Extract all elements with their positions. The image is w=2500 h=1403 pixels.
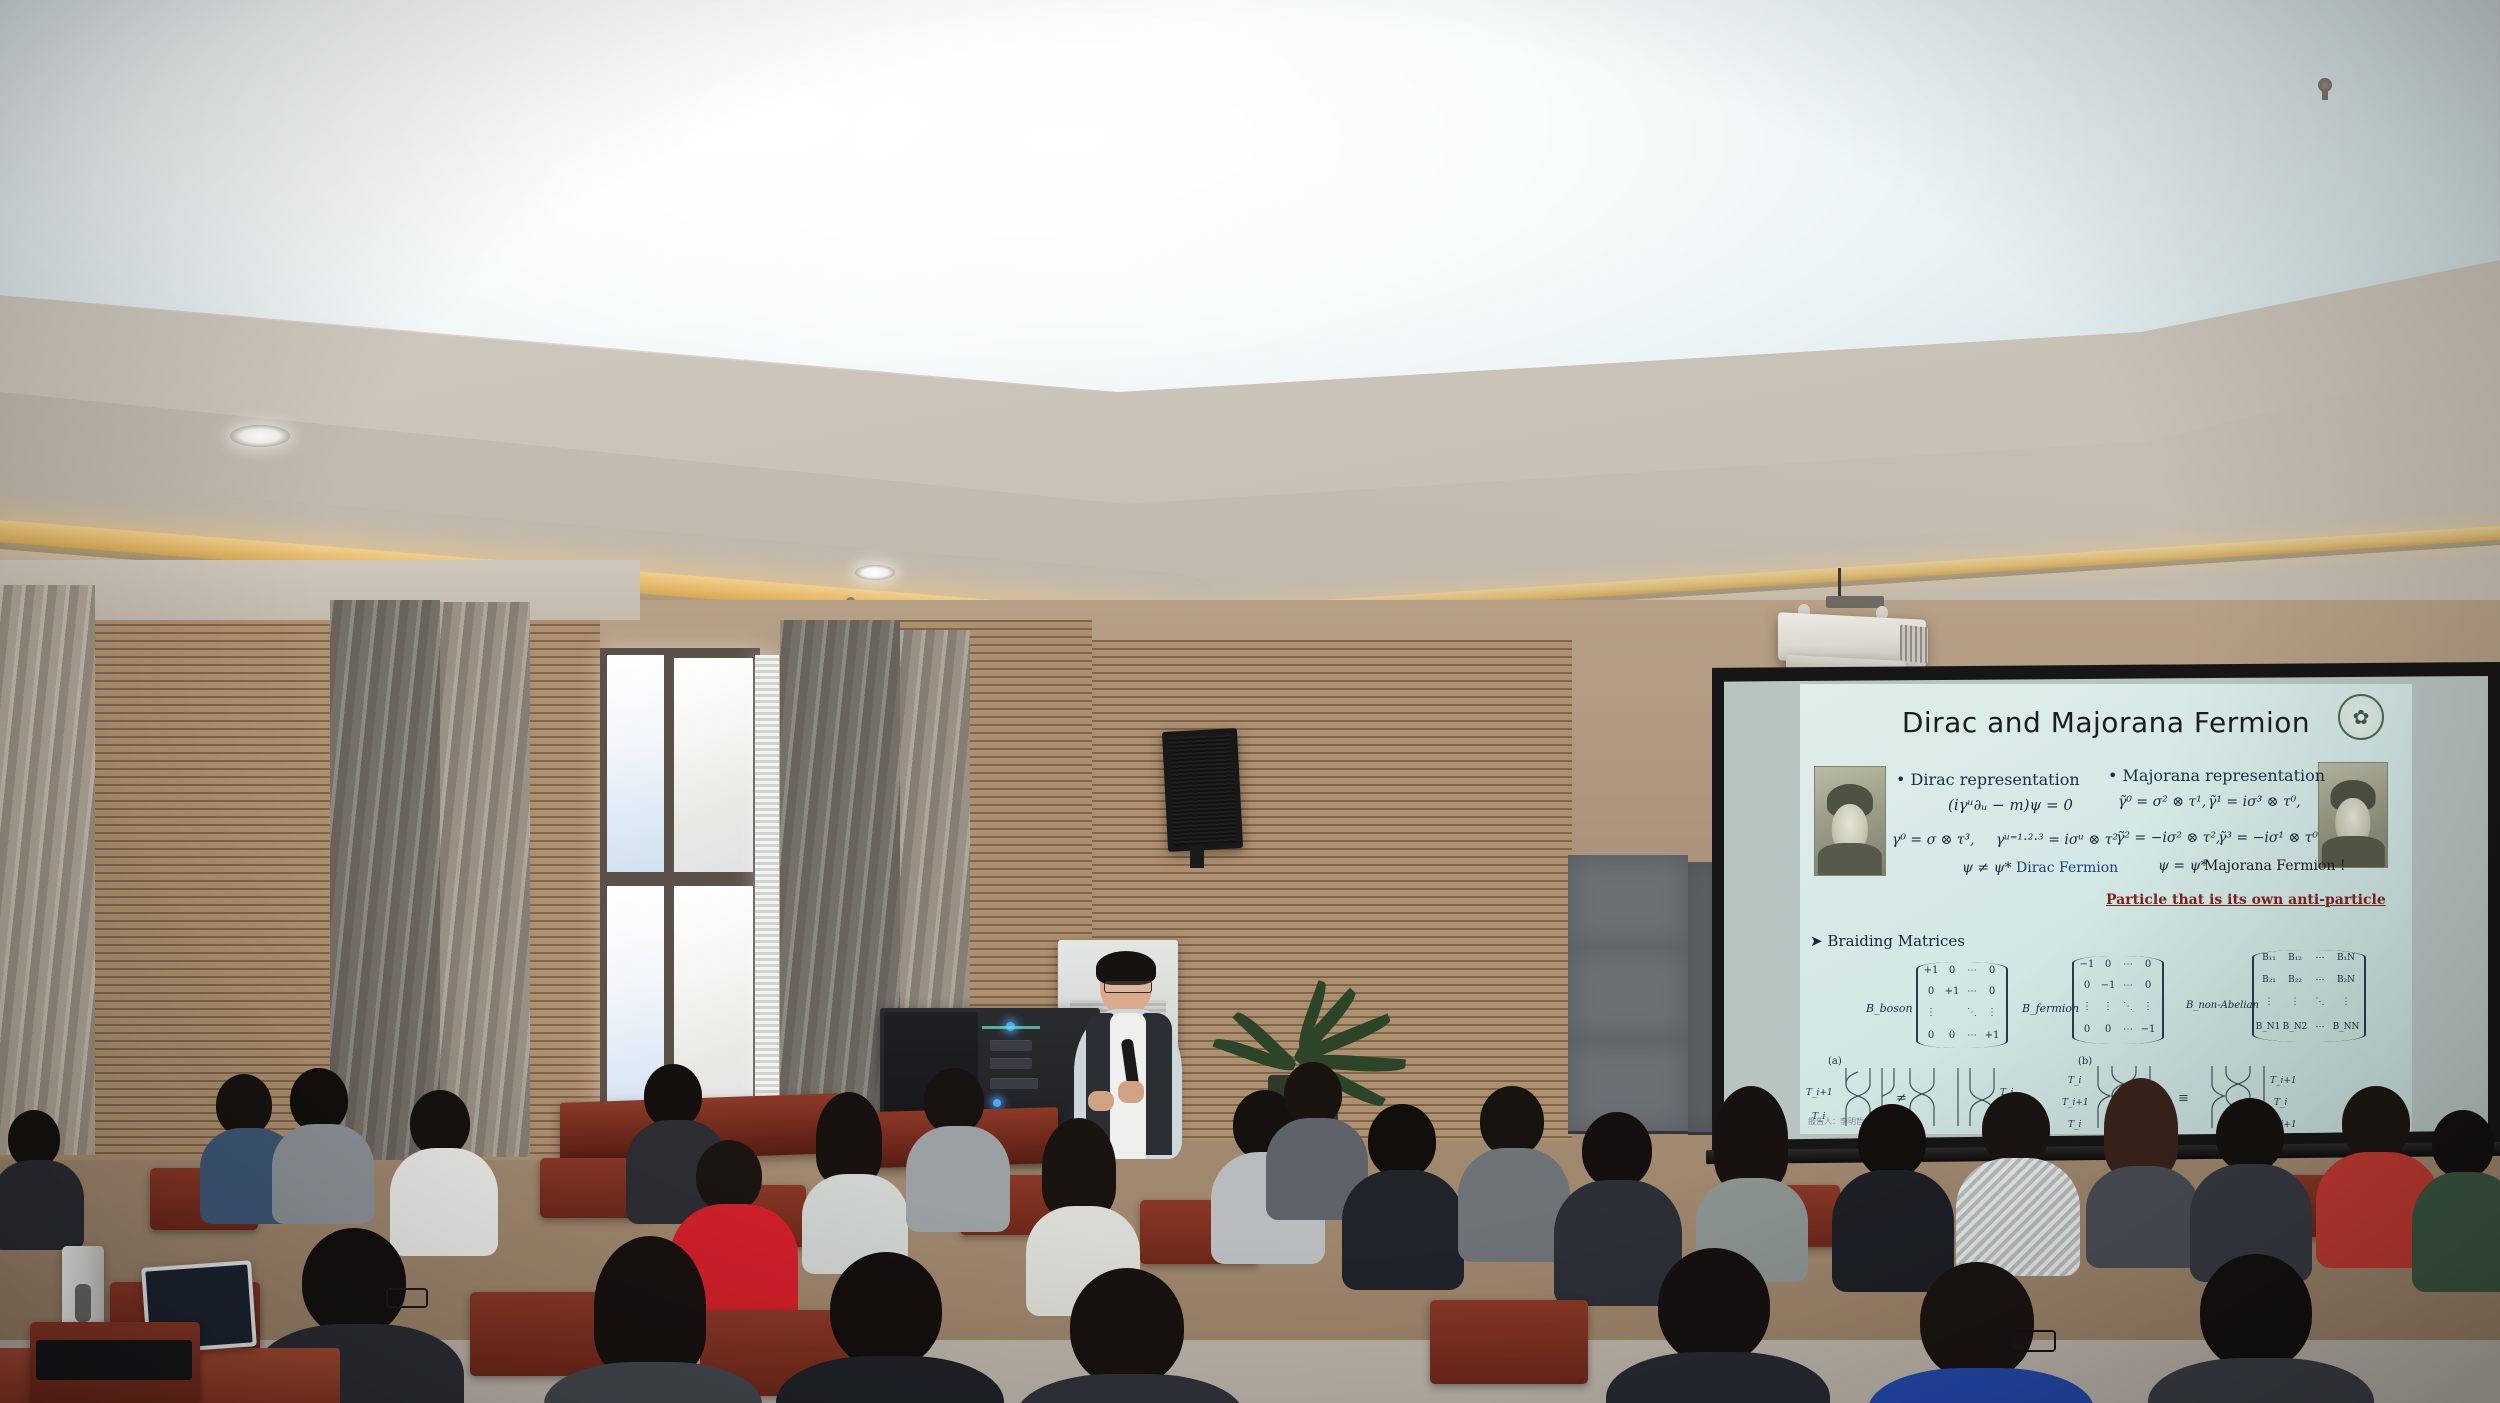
dirac-equation-3: γᵘ⁼¹⋅²⋅³ = iσᵘ ⊗ τ² — [1996, 832, 2118, 848]
dirac-bullet: • Dirac representation — [1896, 770, 2080, 789]
matrix-cell: ⋯ — [1962, 986, 1982, 997]
torso — [2086, 1166, 2200, 1268]
glasses-icon — [386, 1288, 428, 1308]
matrix-cell: +1 — [1920, 965, 1942, 976]
curtain-far-left — [0, 585, 95, 1155]
torso — [2148, 1358, 2374, 1403]
presenter-hand — [1118, 1081, 1144, 1103]
audience-member-front — [2160, 1254, 2360, 1403]
matrix-cell: ⋮ — [2098, 1001, 2118, 1012]
audience-member — [1462, 1086, 1564, 1246]
matrix-cell: −1 — [2076, 959, 2098, 970]
matrix-cell: ⋮ — [1982, 1007, 2002, 1018]
head — [1920, 1262, 2034, 1380]
matrix-cell: ⋱ — [2308, 997, 2332, 1007]
matrix-cell: ⋯ — [1962, 965, 1982, 976]
head — [1582, 1112, 1652, 1188]
head — [696, 1140, 762, 1212]
projector-vent — [1900, 625, 1928, 664]
dirac-bullet-label: Dirac representation — [1911, 770, 2080, 789]
matrix-cell: ⋯ — [2308, 975, 2332, 985]
rack-unit-1 — [990, 1040, 1032, 1051]
chair-seat-foreground — [36, 1340, 192, 1380]
audience-member-front — [1030, 1268, 1230, 1403]
dirac-equation-2: γ⁰ = σ ⊗ τ³, — [1892, 832, 1975, 848]
audience-member — [398, 1090, 490, 1230]
head — [216, 1074, 272, 1136]
matrix-cell: ⋱ — [1962, 1007, 1982, 1018]
head — [1982, 1092, 2050, 1166]
chair-back-front — [1430, 1300, 1588, 1384]
speaker-grille — [1168, 734, 1237, 845]
matrix-cell: −1 — [2138, 1024, 2158, 1035]
head — [1858, 1104, 1926, 1178]
dirac-conclusion-math: ψ ≠ ψ* — [1962, 860, 2012, 876]
matrix-cell: ⋯ — [2118, 980, 2138, 991]
head — [1480, 1086, 1544, 1156]
head — [410, 1090, 470, 1156]
majorana-equation-1: γ̃⁰ = σ² ⊗ τ¹, — [2118, 794, 2206, 810]
matrix-cell: 0 — [2098, 959, 2118, 970]
downlight-2 — [855, 565, 895, 580]
curtain-mid-left — [440, 602, 530, 1157]
majorana-fermion-label: Majorana Fermion ! — [2204, 858, 2346, 874]
matrix-cell: 0 — [2138, 959, 2158, 970]
acoustic-panel-2 — [1568, 947, 1688, 1042]
matrix-cell: B₁N — [2332, 953, 2360, 963]
matrix-cell: ⋮ — [2076, 1001, 2098, 1012]
matrix-cell: ⋯ — [2308, 1022, 2332, 1032]
matrix-cell: ⋯ — [1962, 1030, 1982, 1041]
window-reveal — [755, 655, 779, 1135]
hair-long — [816, 1092, 882, 1184]
torso — [272, 1124, 374, 1224]
downlight-1 — [230, 425, 290, 447]
matrix-cell: ⋯ — [2308, 953, 2332, 963]
matrix-cell: ⋮ — [1920, 1007, 1942, 1018]
thermos-slot — [75, 1284, 91, 1322]
matrix-label-non-abelian: B_non-Abelian — [2186, 1000, 2259, 1011]
torso — [776, 1356, 1004, 1403]
projector-mount — [1826, 596, 1884, 608]
majorana-bullet-label: Majorana representation — [2123, 766, 2326, 785]
matrix-cell: 0 — [1942, 965, 1962, 976]
matrix-cell: 0 — [2098, 1024, 2118, 1035]
audience-member — [1838, 1104, 1948, 1276]
matrix-cell: +1 — [1982, 1030, 2002, 1041]
audience-member-front — [790, 1252, 990, 1403]
matrix-cell: B_N1 — [2254, 1022, 2282, 1032]
audience-member — [2090, 1078, 2194, 1234]
head — [924, 1068, 984, 1134]
sprinkler-head — [2318, 78, 2332, 92]
audience-member-front — [1620, 1248, 1816, 1403]
matrix-cell: ⋮ — [2256, 997, 2282, 1007]
audience-member — [806, 1092, 902, 1242]
torso — [2412, 1172, 2500, 1292]
majorana-equation-3: γ̃² = −iσ² ⊗ τ², — [2116, 830, 2220, 846]
hair-long — [594, 1236, 706, 1376]
matrix-fermion: −1 0 ⋯ 0 0 −1 ⋯ 0 ⋮ ⋮ ⋱ ⋮ 0 0 ⋯ −1 — [2072, 956, 2164, 1044]
matrix-cell: +1 — [1942, 986, 1962, 997]
torso — [544, 1362, 762, 1403]
matrix-cell: −1 — [2098, 980, 2118, 991]
dirac-equation-1: (iγᵘ∂ᵤ − m)ψ = 0 — [1948, 796, 2073, 814]
wall-upper-left — [0, 560, 640, 620]
audience-member — [2416, 1110, 2500, 1280]
matrix-cell: ⋯ — [2118, 959, 2138, 970]
portrait-body — [1818, 843, 1882, 875]
head — [1658, 1248, 1770, 1364]
torso — [1016, 1374, 1244, 1403]
audience-member-front — [560, 1236, 750, 1403]
matrix-cell: B_NN — [2332, 1022, 2360, 1032]
projected-slide: ✿ Dirac and Majorana Fermion • Dirac rep… — [1800, 684, 2412, 1134]
torso — [1956, 1158, 2080, 1276]
torso — [1868, 1368, 2094, 1403]
majorana-conclusion-math: ψ = ψ* — [2158, 858, 2208, 874]
braid-b-right-label-top: T_i+1 — [2270, 1076, 2297, 1086]
window-pane-top-right — [673, 658, 753, 873]
window-pane-top-left — [607, 655, 665, 875]
torso — [1606, 1352, 1830, 1403]
matrix-cell: B₁₂ — [2282, 953, 2308, 963]
matrix-cell: 0 — [2076, 980, 2098, 991]
head — [2432, 1110, 2494, 1178]
emphasis-statement: Particle that is its own anti-particle — [2106, 892, 2386, 908]
audience-member — [2196, 1098, 2306, 1266]
rack-top-bar — [982, 1026, 1040, 1029]
chevron-right-icon: ➤ — [1810, 932, 1827, 950]
lecture-hall-scene: ✿ Dirac and Majorana Fermion • Dirac rep… — [0, 0, 2500, 1403]
matrix-cell: 0 — [1920, 986, 1942, 997]
glasses-icon — [2008, 1330, 2056, 1352]
dirac-portrait — [1814, 766, 1886, 876]
matrix-boson: +1 0 ⋯ 0 0 +1 ⋯ 0 ⋮ ⋱ ⋮ 0 0 ⋯ +1 — [1916, 962, 2008, 1048]
matrix-cell: 0 — [1920, 1030, 1942, 1041]
head — [290, 1068, 348, 1132]
slide-title: Dirac and Majorana Fermion — [1800, 706, 2412, 739]
window-mullion-horizontal — [602, 872, 758, 886]
hair-long — [1042, 1118, 1116, 1218]
head — [2342, 1086, 2410, 1160]
dirac-fermion-label: Dirac Fermion — [2016, 860, 2118, 876]
head — [2216, 1098, 2284, 1172]
matrix-cell: 0 — [1982, 965, 2002, 976]
head — [1284, 1062, 1342, 1126]
matrix-cell: ⋯ — [2118, 1024, 2138, 1035]
matrix-cell: B₂₂ — [2282, 975, 2308, 985]
majorana-portrait — [2318, 762, 2388, 868]
matrix-label-boson: B_boson — [1866, 1002, 1913, 1015]
head — [2200, 1254, 2312, 1370]
presenter-hand-left — [1088, 1091, 1114, 1111]
hair-long — [2104, 1078, 2178, 1178]
braiding-matrices-heading: ➤ Braiding Matrices — [1810, 932, 1965, 950]
speaker-bracket — [1190, 846, 1204, 868]
presenter-glasses — [1104, 981, 1152, 993]
matrix-cell: ⋱ — [2118, 1001, 2138, 1012]
head — [644, 1064, 702, 1128]
audience-member — [278, 1068, 368, 1200]
audience-member — [0, 1110, 80, 1230]
majorana-bullet: • Majorana representation — [2108, 766, 2325, 785]
braiding-heading-label: Braiding Matrices — [1827, 932, 1965, 950]
projection-screen-surface: ✿ Dirac and Majorana Fermion • Dirac rep… — [1724, 676, 2488, 1140]
torso — [1342, 1170, 1464, 1290]
matrix-cell: 0 — [1982, 986, 2002, 997]
head — [302, 1228, 406, 1336]
hair-long — [1714, 1086, 1788, 1190]
wall-speaker — [1162, 728, 1243, 852]
braid-a-left-label-top: T_i+1 — [1806, 1088, 1833, 1098]
audience-member — [1348, 1104, 1458, 1274]
matrix-non-abelian: B₁₁ B₁₂ ⋯ B₁N B₂₁ B₂₂ ⋯ B₂N ⋮ ⋮ ⋱ ⋮ B_N1… — [2252, 950, 2366, 1042]
torso — [906, 1126, 1010, 1232]
presenter-vest-right — [1142, 1013, 1172, 1155]
head — [830, 1252, 942, 1368]
matrix-cell: 0 — [2076, 1024, 2098, 1035]
acoustic-panel-1 — [1568, 855, 1688, 950]
audience-member-front — [1880, 1262, 2080, 1403]
matrix-cell: B₁₁ — [2256, 953, 2282, 963]
audience-member — [1700, 1086, 1802, 1244]
matrix-cell: 0 — [1942, 1030, 1962, 1041]
bullet-dot: • — [1896, 770, 1911, 789]
audience-member — [910, 1068, 1004, 1214]
matrix-cell: ⋮ — [2138, 1001, 2158, 1012]
majorana-equation-4: γ̃³ = −iσ¹ ⊗ τ⁰ — [2218, 830, 2318, 846]
audience-member — [1030, 1118, 1134, 1278]
presenter-hair — [1096, 951, 1156, 985]
majorana-equation-2: γ̃¹ = iσ³ ⊗ τ⁰, — [2208, 794, 2301, 810]
torso — [0, 1160, 84, 1250]
head — [1070, 1268, 1184, 1386]
matrix-cell: B₂₁ — [2256, 975, 2282, 985]
matrix-label-fermion: B_fermion — [2022, 1002, 2079, 1015]
bullet-dot-2: • — [2108, 766, 2123, 785]
audience-member — [1960, 1092, 2072, 1260]
braid-b-left-label-top: T_i — [2068, 1076, 2081, 1086]
head — [1368, 1104, 1436, 1178]
matrix-cell: ⋮ — [2282, 997, 2308, 1007]
matrix-cell: B₂N — [2332, 975, 2360, 985]
matrix-cell: B_N2 — [2282, 1022, 2308, 1032]
matrix-cell: ⋮ — [2332, 997, 2360, 1007]
matrix-cell: 0 — [2138, 980, 2158, 991]
